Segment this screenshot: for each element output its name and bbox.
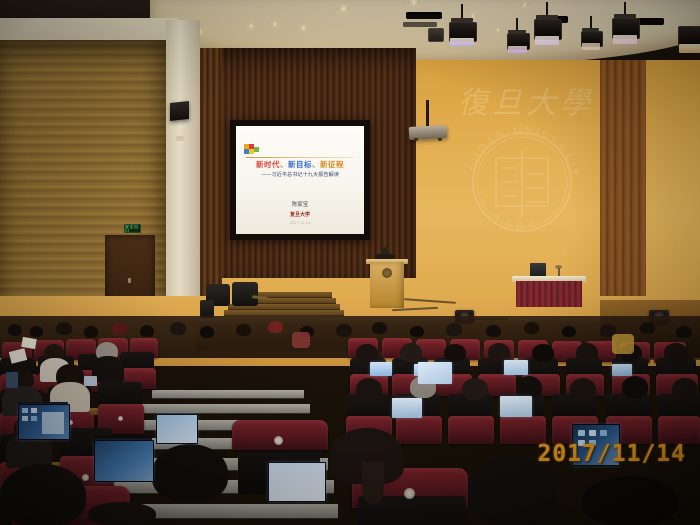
emblem-svg: FUDAN UNIVERSITY 1905 xyxy=(462,100,582,250)
audience-head xyxy=(170,322,186,335)
audience-head xyxy=(576,343,598,362)
auditorium-seat[interactable] xyxy=(500,416,546,444)
floor-chair[interactable] xyxy=(232,282,258,306)
audience-head xyxy=(30,326,43,337)
audience-head xyxy=(516,376,542,398)
laptop-icon xyxy=(22,416,28,421)
audience-head xyxy=(56,322,72,335)
projection-screen: 新时代、新目标、新征程 ——习近平总书记十九大报告解读 陈家宝 复旦大学 201… xyxy=(236,126,364,234)
slide-deco-square xyxy=(254,147,259,152)
audience-head xyxy=(570,378,596,400)
audience-head xyxy=(336,324,352,337)
audience-head-foreground xyxy=(152,444,228,502)
downlight xyxy=(495,28,501,32)
camera-date-stamp: 2017/11/14 xyxy=(538,441,686,467)
exit-sign: 安全出口 xyxy=(124,224,141,233)
laptop-icon xyxy=(22,408,28,413)
audience-phone xyxy=(6,372,18,388)
audience-head xyxy=(462,378,488,400)
laptop-icon xyxy=(31,416,37,421)
audience-laptop-screen xyxy=(418,362,452,384)
wall-mounted-speaker xyxy=(170,101,189,121)
photograph-auditorium-lecture: 安全出口 新时代、新目标、新征程 ——习近平总书记十九大报告解读 陈家宝 复旦大… xyxy=(0,0,700,525)
audience-head xyxy=(268,321,283,333)
downlight xyxy=(300,26,307,30)
audience-head xyxy=(400,343,422,362)
ceiling-vent xyxy=(406,12,442,19)
audience-head xyxy=(236,324,251,336)
audience-clothing xyxy=(612,334,634,354)
audience-head xyxy=(446,323,462,336)
stage-laptop xyxy=(530,263,546,277)
audience-head xyxy=(200,326,214,338)
ceiling-vent xyxy=(403,22,437,27)
audience-laptop-screen xyxy=(156,414,198,444)
audience-head xyxy=(524,322,539,334)
audience-seating-area xyxy=(0,316,700,525)
svg-text:1905: 1905 xyxy=(490,212,544,235)
audience-clothing xyxy=(292,332,310,348)
light-glow xyxy=(679,44,700,53)
stage-step xyxy=(224,310,344,315)
audience-head xyxy=(486,325,501,337)
door-handle[interactable] xyxy=(128,278,131,283)
audience-head xyxy=(676,326,692,338)
seat-stud xyxy=(404,488,415,499)
downlight xyxy=(337,6,350,11)
structural-pillar xyxy=(166,20,200,340)
audience-laptop-screen xyxy=(612,364,632,376)
projector-mount-rod xyxy=(426,100,429,126)
aisle-step xyxy=(142,404,310,413)
auditorium-seat[interactable] xyxy=(448,416,494,444)
audience-head-foreground xyxy=(582,476,678,525)
downlight xyxy=(408,0,420,5)
audience-head xyxy=(640,322,655,334)
audience-laptop-screen xyxy=(370,362,392,376)
tablet-icon xyxy=(578,430,585,436)
light-glow xyxy=(582,43,600,50)
audience-head xyxy=(672,378,698,400)
audience-head-foreground xyxy=(88,502,156,525)
auditorium-seat-headrest[interactable] xyxy=(232,420,328,450)
fudan-university-emblem: FUDAN UNIVERSITY 1905 xyxy=(462,100,582,250)
downlight xyxy=(520,3,529,7)
slide-subtitle: ——习近平总书记十九大报告解读 xyxy=(236,171,364,178)
downlight xyxy=(272,22,278,26)
auditorium-seat[interactable] xyxy=(658,416,700,444)
audience-laptop-screen xyxy=(94,440,154,482)
audience-head-foreground xyxy=(0,464,86,525)
tablet-icon xyxy=(600,430,607,436)
downlight xyxy=(248,24,254,28)
audience-head xyxy=(532,344,554,362)
audience-head xyxy=(356,344,378,362)
audience-laptop-screen xyxy=(392,398,422,418)
audience-head xyxy=(356,378,382,400)
audience-laptop-screen xyxy=(500,396,532,417)
audience-head xyxy=(84,326,98,338)
seat-stud xyxy=(82,474,89,481)
aisle-step xyxy=(152,390,304,398)
audience-head xyxy=(112,323,127,335)
laptop-icon xyxy=(31,408,37,413)
audience-device xyxy=(84,376,97,386)
audience-head xyxy=(622,376,648,398)
light-glow xyxy=(613,35,637,44)
audience-head xyxy=(562,326,576,337)
emblem-year-text: 1905 xyxy=(490,212,544,235)
stage-light-fixture xyxy=(428,28,444,42)
exit-sign-label: 安全出口 xyxy=(125,225,140,233)
audience-laptop-screen xyxy=(504,360,528,375)
stage-curtain xyxy=(600,60,646,305)
light-glow xyxy=(450,38,474,46)
light-glow xyxy=(535,36,559,45)
lectern-emblem xyxy=(382,268,392,278)
audience-head xyxy=(372,322,387,334)
slide-date: 2017.11.14 xyxy=(236,221,364,225)
wall-camera-mount xyxy=(176,136,184,141)
auditorium-seat[interactable] xyxy=(396,416,442,444)
audience-laptop-screen xyxy=(268,462,326,502)
laptop-window xyxy=(42,412,64,434)
tablet-icon xyxy=(589,430,596,436)
audience-ponytail xyxy=(362,462,384,504)
slide-divider-rule xyxy=(246,157,354,158)
slide-organization: 复旦大学 xyxy=(236,211,364,218)
audience-head xyxy=(664,343,688,362)
audience-head xyxy=(444,344,466,362)
seat-stud xyxy=(274,436,283,445)
audience-head xyxy=(8,324,22,336)
presentation-slide: 新时代、新目标、新征程 ——习近平总书记十九大报告解读 陈家宝 复旦大学 201… xyxy=(236,126,364,234)
presider-table-skirt xyxy=(516,281,582,307)
slide-speaker-name: 陈家宝 xyxy=(236,200,364,208)
light-glow xyxy=(508,46,527,53)
seat-stud xyxy=(118,416,123,421)
slide-title: 新时代、新目标、新征程 xyxy=(236,159,364,170)
audience-head xyxy=(140,325,154,337)
audience-head xyxy=(410,326,424,337)
